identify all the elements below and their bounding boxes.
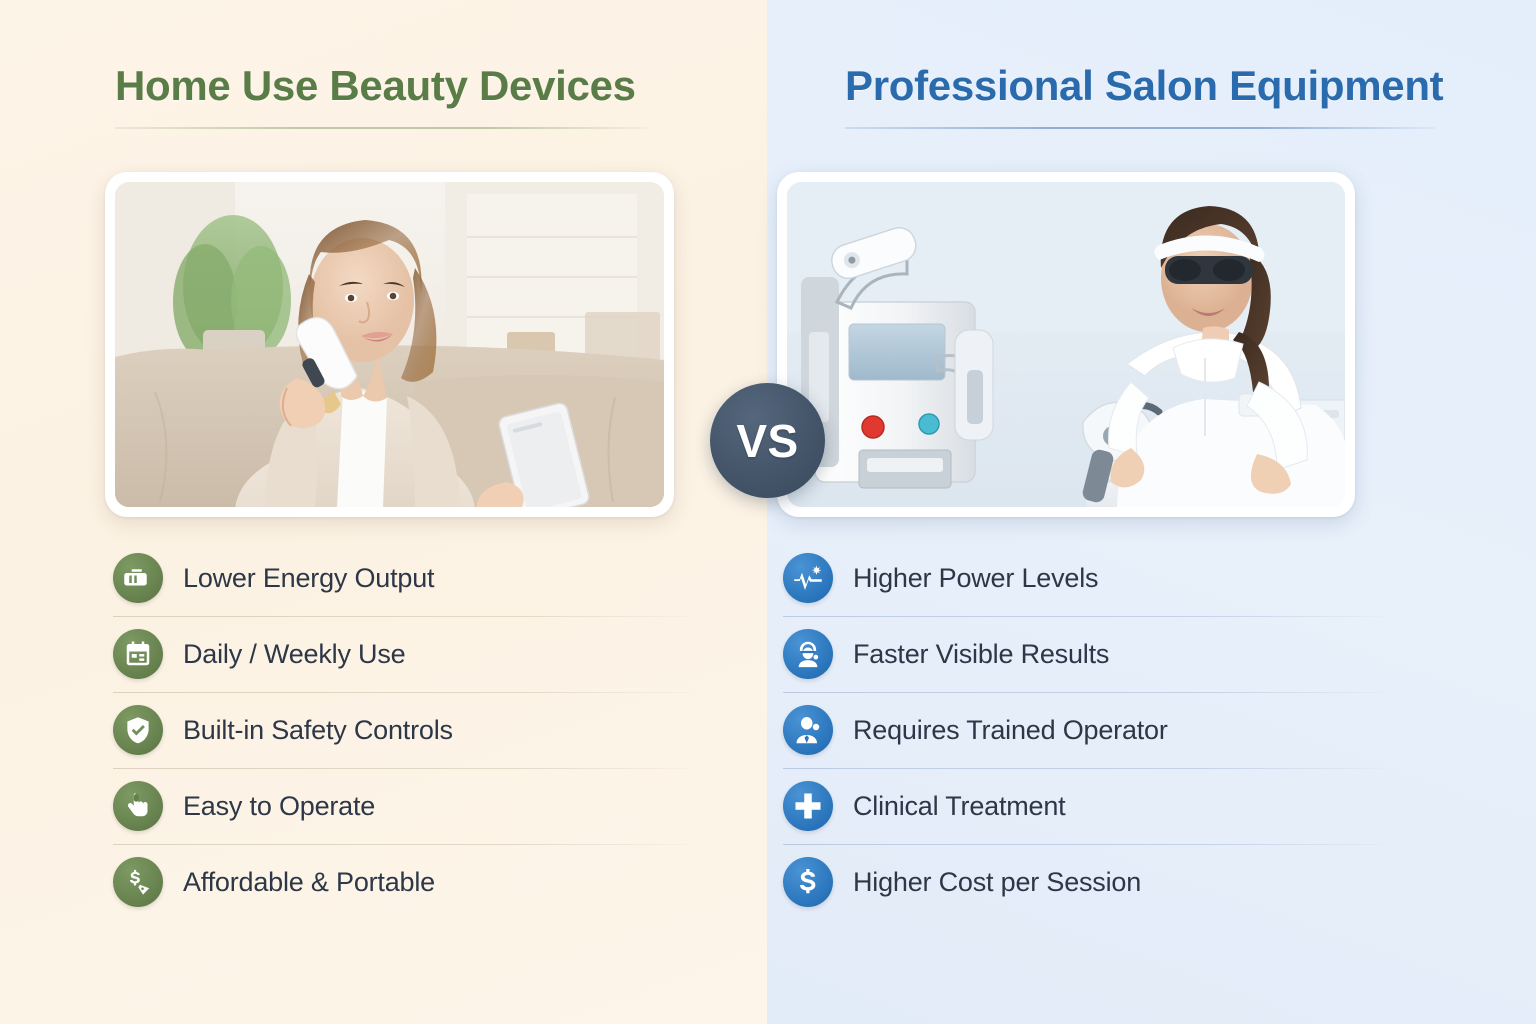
- left-panel-title: Home Use Beauty Devices: [115, 62, 636, 110]
- list-item-label: Higher Cost per Session: [853, 867, 1141, 898]
- right-panel-title: Professional Salon Equipment: [845, 62, 1443, 110]
- shield-check-icon: [113, 705, 163, 755]
- list-item[interactable]: Higher Power Levels: [783, 540, 1383, 616]
- medical-cross-icon: [783, 781, 833, 831]
- right-feature-list: Higher Power Levels Faster Visible Resul…: [783, 540, 1383, 920]
- pointing-hand-icon: [113, 781, 163, 831]
- list-item-label: Faster Visible Results: [853, 639, 1109, 670]
- right-photo-frame: [777, 172, 1355, 517]
- vs-badge: VS: [710, 383, 825, 498]
- list-item-label: Clinical Treatment: [853, 791, 1065, 822]
- battery-icon: [113, 553, 163, 603]
- left-title-divider: [115, 127, 648, 129]
- left-panel: Home Use Beauty Devices: [0, 0, 767, 1024]
- list-item[interactable]: Faster Visible Results: [783, 616, 1383, 692]
- list-item-label: Daily / Weekly Use: [183, 639, 405, 670]
- calendar-icon: [113, 629, 163, 679]
- home-device-photo: [115, 182, 664, 507]
- list-item[interactable]: Clinical Treatment: [783, 768, 1383, 844]
- list-item[interactable]: Easy to Operate: [113, 768, 691, 844]
- list-item-label: Affordable & Portable: [183, 867, 435, 898]
- list-item[interactable]: Daily / Weekly Use: [113, 616, 691, 692]
- salon-equipment-photo: [787, 182, 1345, 507]
- list-item-label: Easy to Operate: [183, 791, 375, 822]
- list-item[interactable]: Built-in Safety Controls: [113, 692, 691, 768]
- list-item[interactable]: Affordable & Portable: [113, 844, 691, 920]
- list-item[interactable]: Higher Cost per Session: [783, 844, 1383, 920]
- left-feature-list: Lower Energy Output Daily / Weekly Use B…: [113, 540, 691, 920]
- pulse-icon: [783, 553, 833, 603]
- operator-icon: [783, 705, 833, 755]
- list-item-label: Lower Energy Output: [183, 563, 434, 594]
- right-title-divider: [845, 127, 1435, 129]
- money-tag-icon: [113, 857, 163, 907]
- list-item[interactable]: Requires Trained Operator: [783, 692, 1383, 768]
- right-panel: Professional Salon Equipment: [767, 0, 1536, 1024]
- vs-label: VS: [736, 414, 798, 468]
- list-item-label: Built-in Safety Controls: [183, 715, 453, 746]
- list-item[interactable]: Lower Energy Output: [113, 540, 691, 616]
- left-photo-frame: [105, 172, 674, 517]
- dollar-coin-icon: [783, 857, 833, 907]
- list-item-label: Requires Trained Operator: [853, 715, 1168, 746]
- comparison-infographic: Home Use Beauty Devices: [0, 0, 1536, 1024]
- list-item-label: Higher Power Levels: [853, 563, 1098, 594]
- person-headset-icon: [783, 629, 833, 679]
